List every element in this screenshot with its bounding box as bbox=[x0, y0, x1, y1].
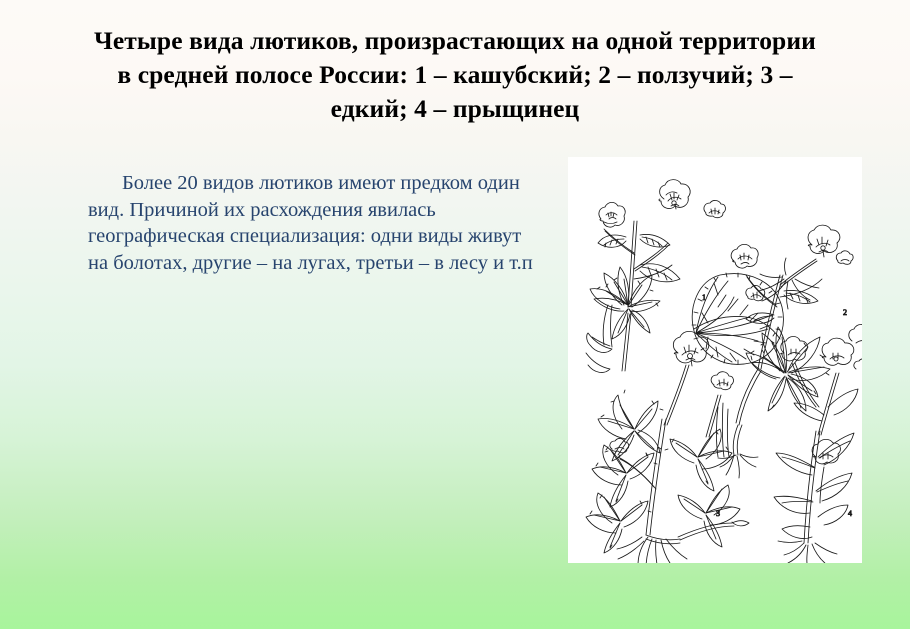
page-title: Четыре вида лютиков, произрастающих на о… bbox=[48, 24, 862, 126]
title-line-1: Четыре вида лютиков, произрастающих на о… bbox=[48, 24, 862, 58]
title-line-2: в средней полосе России: 1 – кашубский; … bbox=[48, 58, 862, 92]
body-paragraph: Более 20 видов лютиков имеют предком оди… bbox=[88, 170, 540, 276]
illustration-label-1: 1 bbox=[702, 293, 706, 302]
slide-canvas: Четыре вида лютиков, произрастающих на о… bbox=[0, 0, 910, 629]
buttercup-species-illustration: 1 bbox=[568, 157, 862, 563]
title-line-3: едкий; 4 – прыщинец bbox=[48, 92, 862, 126]
illustration-label-2: 2 bbox=[843, 308, 847, 317]
botanical-illustration-panel: 1 bbox=[568, 157, 862, 563]
illustration-label-4: 4 bbox=[848, 509, 852, 518]
illustration-label-3: 3 bbox=[716, 509, 720, 518]
